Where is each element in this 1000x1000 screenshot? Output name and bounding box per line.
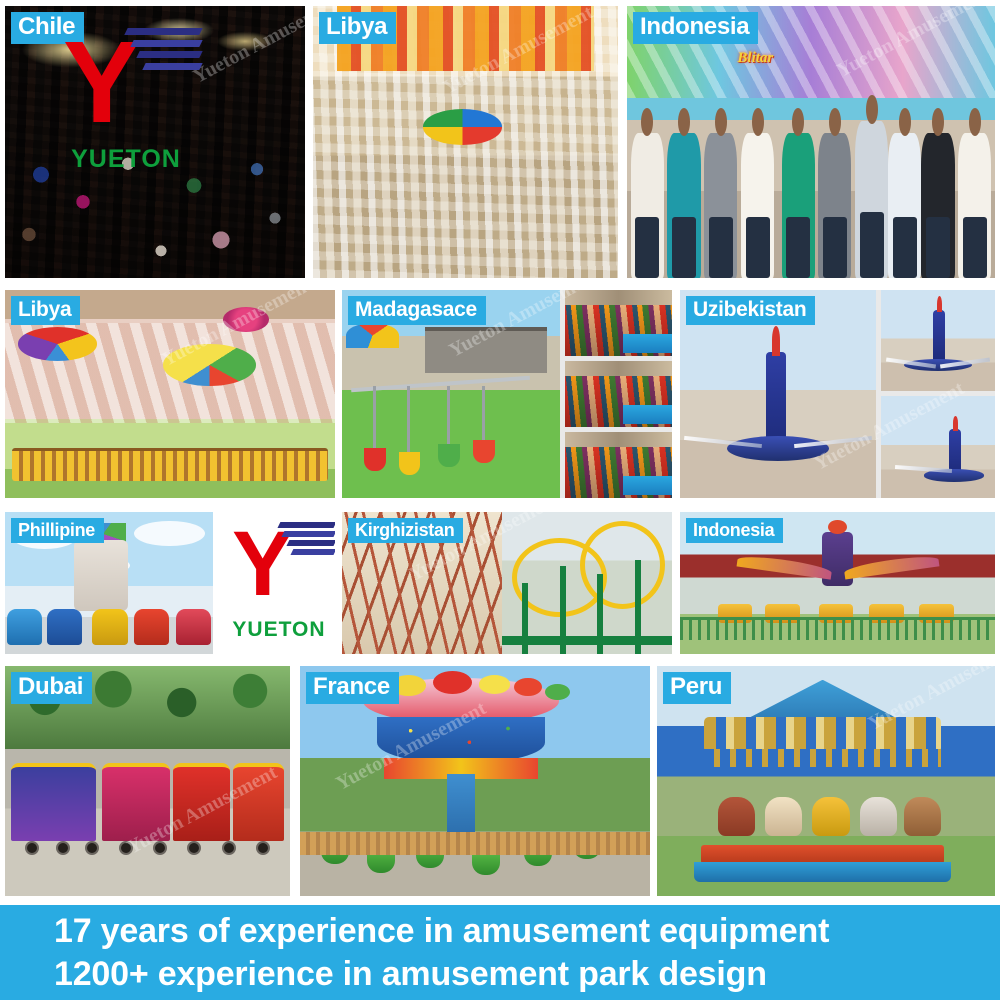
yueton-logo: Y YUETON xyxy=(223,518,335,642)
gallery-panel-phillipine[interactable]: Y YUETON Phillipine xyxy=(5,512,335,654)
gallery-panel-indonesia-1[interactable]: Blitar Yueton Amusement Indonesia xyxy=(627,6,995,278)
gallery-panel-france[interactable]: Yueton Amusement France xyxy=(300,666,650,896)
photo-madagasace-crowd-1 xyxy=(565,290,672,356)
country-label-france: France xyxy=(306,672,399,704)
photo-madagasace-crowd-2 xyxy=(565,361,672,427)
gallery-panel-kirghizistan[interactable]: Yueton Amusement Kirghizistan xyxy=(342,512,672,654)
gallery-panel-chile[interactable]: Yueton Amusement Y YUETON Chile xyxy=(5,6,305,278)
country-label-kirghizistan: Kirghizistan xyxy=(348,518,463,543)
country-label-indonesia: Indonesia xyxy=(686,518,783,543)
promo-banner-line-2: 1200+ experience in amusement park desig… xyxy=(54,953,1000,996)
photo-madagasace-crowd-3 xyxy=(565,432,672,498)
promo-banner: 17 years of experience in amusement equi… xyxy=(0,905,1000,1000)
gallery-panel-uzibekistan[interactable]: Yueton Amusement Uzibekistan xyxy=(680,290,995,498)
sign-text-blitar: Blitar xyxy=(737,50,773,67)
promo-banner-line-1: 17 years of experience in amusement equi… xyxy=(54,910,1000,953)
gallery-panel-madagasace[interactable]: Yueton Amusement Madagasace xyxy=(342,290,672,498)
country-label-dubai: Dubai xyxy=(11,672,92,704)
photo-kirghizistan-coaster xyxy=(502,512,672,654)
country-label-peru: Peru xyxy=(663,672,731,704)
photo-indonesia-team: Blitar xyxy=(627,6,995,278)
country-label-libya: Libya xyxy=(319,12,396,44)
country-label-libya: Libya xyxy=(11,296,80,325)
photo-libya-day-crowd xyxy=(313,6,618,278)
yueton-logo: Y YUETON xyxy=(51,24,201,174)
gallery-panel-libya-1[interactable]: Yueton Amusement Libya xyxy=(313,6,618,278)
photo-uzibekistan-sub-2 xyxy=(881,396,995,498)
gallery-panel-indonesia-2[interactable]: Indonesia xyxy=(680,512,995,654)
gallery-page: Yueton Amusement Y YUETON Chile Yueton A… xyxy=(0,0,1000,1000)
yueton-stripes-icon xyxy=(279,522,335,558)
yueton-wordmark: YUETON xyxy=(51,145,201,174)
country-label-phillipine: Phillipine xyxy=(11,518,104,543)
photo-uzibekistan-sub-1 xyxy=(881,290,995,391)
country-label-madagasace: Madagasace xyxy=(348,296,486,325)
country-label-uzibekistan: Uzibekistan xyxy=(686,296,815,325)
gallery-panel-peru[interactable]: Yueton Amusement Peru xyxy=(657,666,995,896)
gallery-panel-dubai[interactable]: Yueton Amusement Dubai xyxy=(5,666,290,896)
country-label-indonesia: Indonesia xyxy=(633,12,758,44)
yueton-stripes-icon xyxy=(126,28,201,71)
yueton-wordmark: YUETON xyxy=(223,618,335,642)
gallery-panel-libya-2[interactable]: Yueton Amusement Libya xyxy=(5,290,335,498)
